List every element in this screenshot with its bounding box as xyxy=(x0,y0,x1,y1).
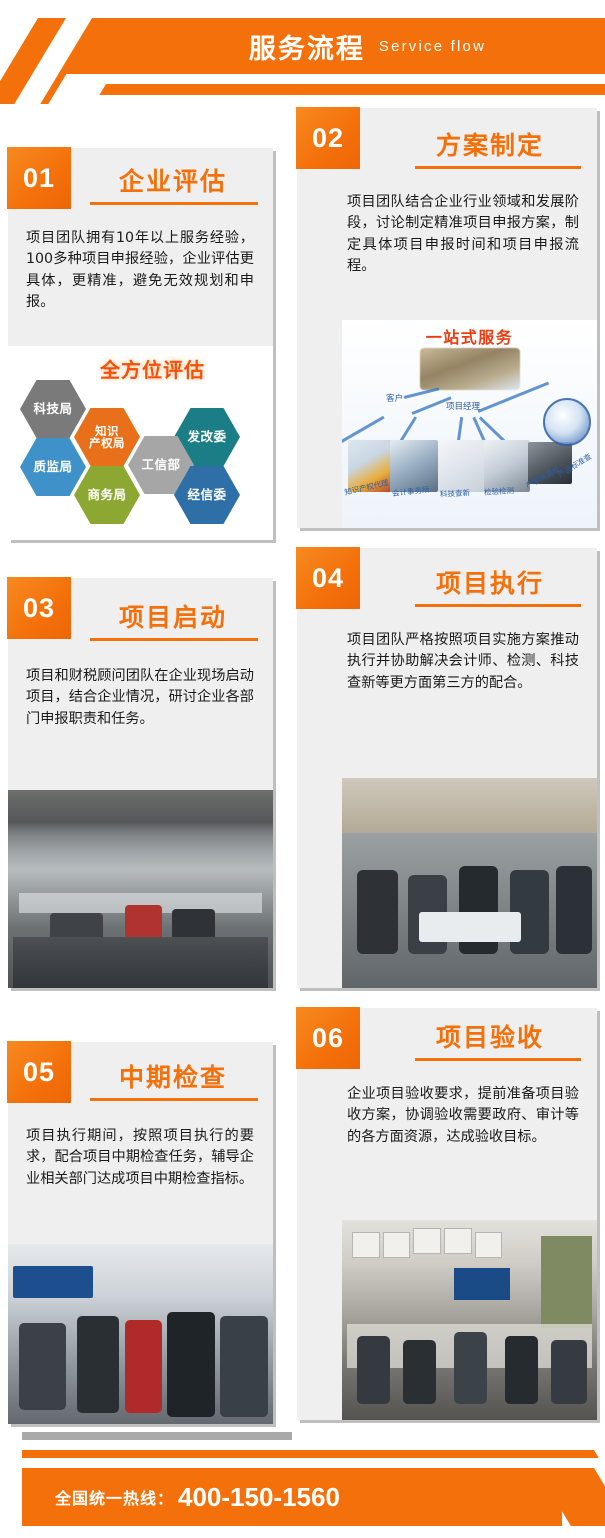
card-title: 中期检查 xyxy=(80,1058,266,1094)
card-body-text: 企业项目验收要求，提前准备项目验收方案，协调验收需要政府、审计等的各方面资源，达… xyxy=(347,1084,579,1148)
card-title: 项目执行 xyxy=(397,564,583,600)
card-body-text: 项目和财税顾问团队在企业现场启动项目，结合企业情况，研讨企业各部门申报职责和任务… xyxy=(26,666,254,730)
card-number-badge: 02 xyxy=(296,107,360,169)
thumb-tech-search xyxy=(438,440,486,492)
one-stop-label-inspection: 检验检测 xyxy=(484,485,515,498)
footer-top-line xyxy=(22,1450,584,1458)
card-media-photo xyxy=(8,790,273,988)
header-text-group: 服务流程 Service flow xyxy=(130,18,605,74)
card-number-badge: 04 xyxy=(296,547,360,609)
hotline-number[interactable]: 400-150-1560 xyxy=(178,1482,340,1513)
footer-gray-strip xyxy=(22,1432,292,1440)
one-stop-team-photo xyxy=(420,348,520,390)
hotline-label: 全国统一热线： xyxy=(55,1485,174,1509)
card-title: 方案制定 xyxy=(397,126,583,162)
card-title-rule xyxy=(415,604,581,607)
card-title-rule xyxy=(90,1098,258,1101)
hex-diagram-title: 全方位评估 xyxy=(100,354,260,383)
one-stop-label-accounting: 会计事务所 xyxy=(392,484,430,499)
process-card-05[interactable]: 05 中期检查 项目执行期间，按照项目执行的要求，配合项目中期检查任务，辅导企业… xyxy=(8,1042,273,1424)
page-title: 服务流程 xyxy=(249,27,365,66)
card-body-text: 项目执行期间，按照项目执行的要求，配合项目中期检查任务，辅导企业相关部门达成项目… xyxy=(26,1126,254,1190)
card-media-photo xyxy=(8,1244,273,1424)
hex-shangwu-ju: 商务局 xyxy=(74,466,140,524)
thumb-inspection xyxy=(484,440,530,492)
card-body-text: 项目团队结合企业行业领域和发展阶段，讨论制定精准项目申报方案，制定具体项目申报时… xyxy=(347,192,579,277)
hex-keji-ju: 科技局 xyxy=(20,380,86,438)
card-body-text: 项目团队严格按照项目实施方案推动执行并协助解决会计师、检测、科技查新等更方面第三… xyxy=(347,630,579,694)
card-title-rule xyxy=(415,166,581,169)
page-header: 服务流程 Service flow xyxy=(0,18,605,104)
card-media-one-stop-diagram: 一站式服务 客户 项目经理 知识产权代理 会计事务所 科技查新 检验检测 产学研… xyxy=(342,320,597,528)
card-number-badge: 05 xyxy=(7,1041,71,1103)
process-card-01[interactable]: 01 企业评估 项目团队拥有10年以上服务经验，100多种项目申报经验，企业评估… xyxy=(8,148,273,540)
card-number-badge: 03 xyxy=(7,577,71,639)
hex-zhishi-chanquan-ju: 知识 产权局 xyxy=(74,408,140,466)
process-card-06[interactable]: 06 项目验收 企业项目验收要求，提前准备项目验收方案，协调验收需要政府、审计等… xyxy=(297,1008,597,1420)
process-card-03[interactable]: 03 项目启动 项目和财税顾问团队在企业现场启动项目，结合企业情况，研讨企业各部… xyxy=(8,578,273,988)
card-media-hex-diagram: 全方位评估 科技局 知识 产权局 发改委 质监局 工信部 商务局 经信委 xyxy=(8,346,273,540)
card-title-rule xyxy=(90,202,258,205)
card-title: 企业评估 xyxy=(80,162,266,198)
card-title: 项目验收 xyxy=(397,1018,583,1054)
hotline-group: 全国统一热线： 400-150-1560 xyxy=(55,1468,340,1526)
card-media-photo xyxy=(342,778,597,988)
card-title-rule xyxy=(415,1058,581,1061)
process-card-04[interactable]: 04 项目执行 项目团队严格按照项目实施方案推动执行并协助解决会计师、检测、科技… xyxy=(297,548,597,988)
page-subtitle: Service flow xyxy=(379,38,486,55)
card-number-badge: 06 xyxy=(296,1007,360,1069)
one-stop-node-customer: 客户 xyxy=(386,392,403,404)
card-title-rule xyxy=(90,638,258,641)
one-stop-label-tech-search: 科技查新 xyxy=(440,487,471,500)
iso-seal-icon xyxy=(543,398,591,446)
process-card-02[interactable]: 02 方案制定 项目团队结合企业行业领域和发展阶段，讨论制定精准项目申报方案，制… xyxy=(297,108,597,528)
card-media-photo xyxy=(342,1220,597,1420)
page-footer: 全国统一热线： 400-150-1560 xyxy=(0,1432,605,1538)
card-number-badge: 01 xyxy=(7,147,71,209)
header-underline xyxy=(130,84,605,95)
one-stop-node-manager: 项目经理 xyxy=(446,400,480,412)
one-stop-title: 一站式服务 xyxy=(342,324,597,348)
card-body-text: 项目团队拥有10年以上服务经验，100多种项目申报经验，企业评估更具体，更精准，… xyxy=(26,228,254,313)
thumb-accounting-firm xyxy=(390,440,438,492)
hex-zhijian-ju: 质监局 xyxy=(20,438,86,496)
card-title: 项目启动 xyxy=(80,598,266,634)
